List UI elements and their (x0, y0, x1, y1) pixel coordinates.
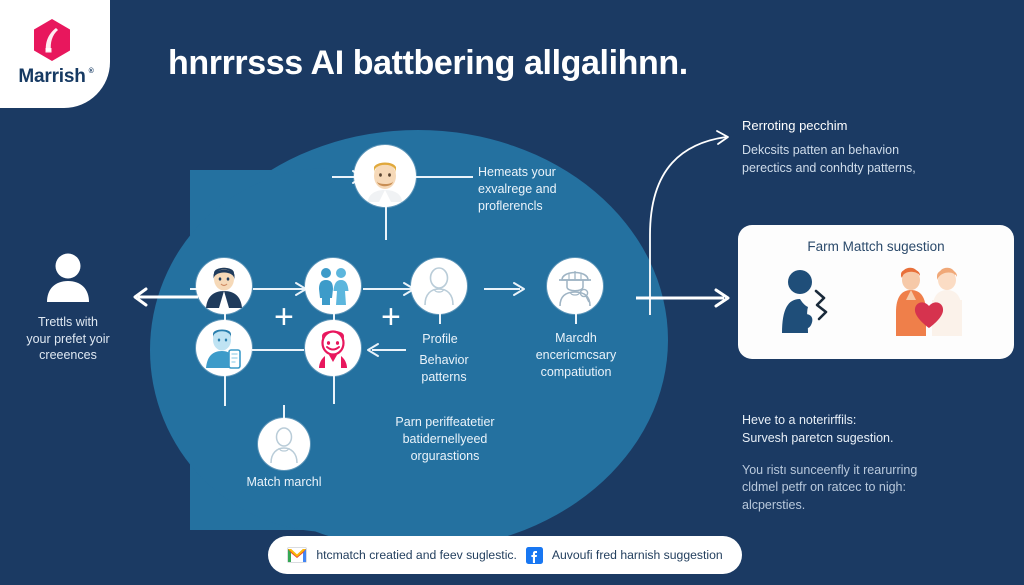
node-bearded-man-avatar[interactable] (354, 145, 416, 207)
match-card-title: Farm Mattch sugestion (738, 239, 1014, 254)
bottom-status-bar[interactable]: htcmatch creatied and feev suglestic. Au… (268, 536, 742, 574)
bottom-bar-text-2: Auvoufi fred harnish suggestion (552, 548, 723, 562)
outcome-secondary-text: You ristı sunceenfly it rearurring cldme… (742, 462, 1004, 515)
dark-haired-man-icon (202, 264, 246, 308)
couple-with-heart-icon (888, 266, 974, 338)
facebook-icon (526, 547, 543, 564)
arrow-dark-to-couple-icon (256, 280, 312, 298)
connector-pink-down (333, 372, 335, 404)
node-profile-outline[interactable] (411, 258, 467, 314)
user-silhouette-icon (39, 252, 97, 306)
couple-pair-icon (311, 264, 355, 308)
insight-body: Dekcsits patten an behavion perectics an… (742, 142, 1004, 178)
connector-phone-down (224, 372, 226, 406)
operator-plus-1: + (274, 300, 294, 334)
brand-name-text: Marrish (18, 66, 85, 87)
node-match-person-outline[interactable] (258, 418, 310, 470)
label-preference-organisations: Parn periffeatetier batidernellyeed orgu… (352, 414, 538, 465)
left-preferences-block: Trettls with your prefet yoir creeences (6, 252, 130, 364)
profile-outline-icon (416, 263, 462, 309)
label-top-right: Hemeats your exvalrege and proflerencls (478, 164, 618, 215)
node-hardhat-worker[interactable] (547, 258, 603, 314)
match-suggestion-card[interactable]: Farm Mattch sugestion (738, 225, 1014, 359)
label-profile: Profile (399, 331, 481, 348)
infographic-canvas: Marrish® hnrrrsss AI battbering allgalih… (0, 0, 1024, 585)
node-person-with-phone[interactable] (196, 320, 252, 376)
gmail-envelope-icon (287, 547, 307, 563)
hardhat-worker-icon (551, 262, 599, 310)
pink-face-icon (311, 326, 355, 370)
insight-title: Rerroting pecchim (742, 118, 1004, 133)
label-compatibility: Marcdh encericmcsary compatiution (516, 330, 636, 381)
person-with-phone-icon (202, 326, 246, 370)
person-outline-icon (263, 423, 305, 465)
insight-block: Rerroting pecchim Dekcsits patten an beh… (742, 118, 1004, 178)
operator-plus-2: + (381, 300, 401, 334)
trademark-symbol: ® (89, 68, 94, 75)
arrow-profile-to-worker-icon (484, 280, 530, 298)
left-preferences-label: Trettls with your prefet yoir creeences (6, 314, 130, 364)
arrow-left-to-preferences-icon (126, 286, 200, 308)
match-card-body (738, 260, 1014, 344)
bottom-bar-text-1: htcmatch creatied and feev suglestic. (316, 548, 517, 562)
node-couple-pair[interactable] (305, 258, 361, 314)
bearded-man-avatar-icon (359, 150, 411, 202)
outcome-block: Heve to a noterirffils: Survesh paretcn … (742, 412, 1004, 515)
outcome-primary-text: Heve to a noterirffils: Survesh paretcn … (742, 412, 1004, 448)
node-pink-face[interactable] (305, 320, 361, 376)
page-title: hnrrrsss AI battbering allgalihnn. (168, 44, 868, 83)
person-signal-icon (778, 267, 844, 337)
arrow-to-match-card-icon (636, 286, 736, 310)
connector-phone-to-pink (252, 349, 304, 351)
brand-logo-badge: Marrish® (0, 0, 110, 108)
label-behavior-patterns: Behavior patterns (399, 352, 489, 386)
label-match-marchl: Match marchl (224, 474, 344, 491)
brand-name: Marrish® (18, 66, 85, 88)
connector-topman-label (415, 176, 473, 178)
hexagon-logo-icon (32, 18, 72, 62)
node-dark-haired-man[interactable] (196, 258, 252, 314)
